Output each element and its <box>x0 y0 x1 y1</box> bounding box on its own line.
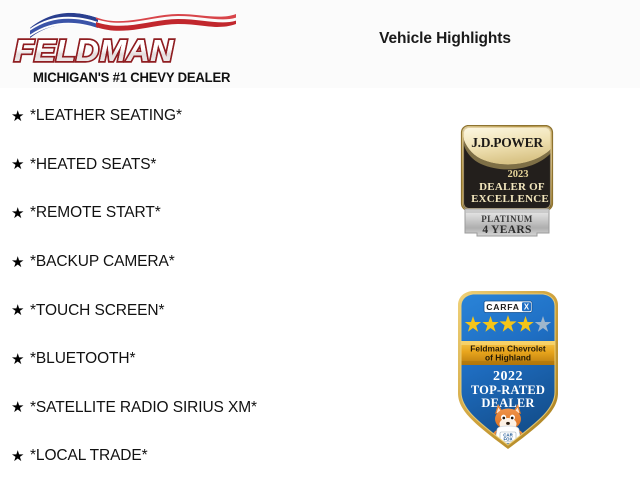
star-bullet-icon: ★ <box>8 303 30 318</box>
list-item: ★ *SATELLITE RADIO SIRIUS XM* <box>8 384 338 433</box>
list-item-label: *LOCAL TRADE* <box>30 447 148 465</box>
star-bullet-icon: ★ <box>8 157 30 172</box>
vehicle-highlights-list: ★ *LEATHER SEATING* ★ *HEATED SEATS* ★ *… <box>8 92 338 481</box>
feldman-wordmark: FELDMAN FELDMAN <box>10 32 242 68</box>
svg-text:DEALER: DEALER <box>481 396 535 410</box>
vehicle-highlights-page: FELDMAN FELDMAN MICHIGAN'S #1 CHEVY DEAL… <box>0 0 640 480</box>
list-item: ★ *LEATHER SEATING* <box>8 92 338 141</box>
svg-text:X: X <box>524 303 530 312</box>
list-item: ★ *HEATED SEATS* <box>8 141 338 190</box>
list-item-label: *BLUETOOTH* <box>30 350 135 368</box>
jd-power-brand-text: J.D.POWER <box>471 135 543 150</box>
jd-power-year: 2023 <box>508 169 529 180</box>
carfax-top-rated-dealer-badge: CARFA X Feldman Chevrolet of Highl <box>453 288 563 451</box>
star-bullet-icon: ★ <box>8 206 30 221</box>
jd-power-tier: PLATINUM <box>481 214 533 224</box>
jd-power-dealer-of-excellence-badge: J.D.POWER 2023 DEALER OF EXCELLENCE PLAT… <box>459 125 555 237</box>
svg-text:CARFA: CARFA <box>486 302 520 312</box>
star-bullet-icon: ★ <box>8 109 30 124</box>
list-item: ★ *LOCAL TRADE* <box>8 432 338 481</box>
dealer-tagline: MICHIGAN'S #1 CHEVY DEALER <box>24 69 240 86</box>
list-item-label: *HEATED SEATS* <box>30 156 156 174</box>
star-bullet-icon: ★ <box>8 449 30 464</box>
list-item-label: *BACKUP CAMERA* <box>30 253 175 271</box>
star-bullet-icon: ★ <box>8 400 30 415</box>
list-item-label: *LEATHER SEATING* <box>30 107 182 125</box>
dealer-tagline-text: MICHIGAN'S #1 CHEVY DEALER <box>33 70 230 85</box>
svg-text:FOX: FOX <box>503 437 512 442</box>
list-item: ★ *TOUCH SCREEN* <box>8 286 338 335</box>
svg-text:EXCELLENCE: EXCELLENCE <box>471 193 549 205</box>
list-item: ★ *BLUETOOTH* <box>8 335 338 384</box>
carfax-dealer-line2: of Highland <box>485 353 531 363</box>
list-item: ★ *REMOTE START* <box>8 189 338 238</box>
star-bullet-icon: ★ <box>8 255 30 270</box>
star-bullet-icon: ★ <box>8 352 30 367</box>
list-item-label: *TOUCH SCREEN* <box>30 302 164 320</box>
jd-power-tenure: 4 YEARS <box>482 224 531 236</box>
dealer-logo[interactable]: FELDMAN FELDMAN MICHIGAN'S #1 CHEVY DEAL… <box>10 6 242 86</box>
page-title: Vehicle Highlights <box>340 30 550 48</box>
carfax-logo-icon: CARFA X <box>484 301 532 313</box>
list-item-label: *SATELLITE RADIO SIRIUS XM* <box>30 399 257 417</box>
svg-text:DEALER OF: DEALER OF <box>479 181 545 193</box>
svg-text:FELDMAN: FELDMAN <box>14 33 174 67</box>
list-item-label: *REMOTE START* <box>30 204 161 222</box>
svg-text:TOP-RATED: TOP-RATED <box>471 383 545 397</box>
list-item: ★ *BACKUP CAMERA* <box>8 238 338 287</box>
carfax-year: 2022 <box>493 369 523 384</box>
